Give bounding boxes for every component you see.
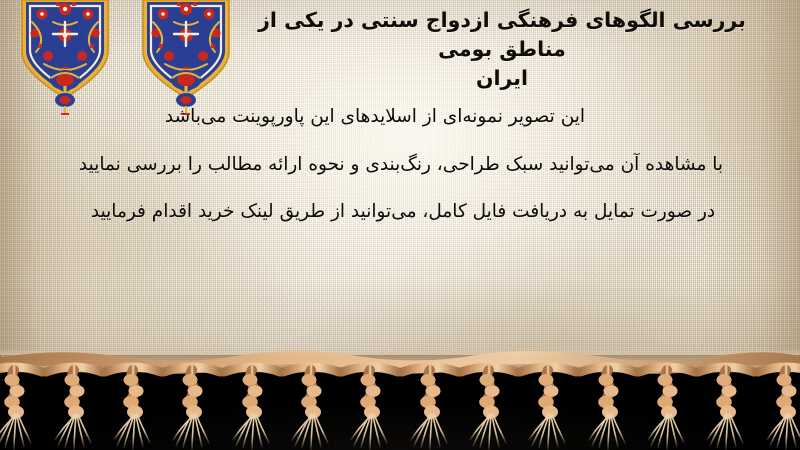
slide-title: بررسی الگوهای فرهنگی ازدواج سنتی در یکی … xyxy=(222,6,782,93)
body-line-2: با مشاهده آن می‌توانید سبک طراحی، رنگ‌بن… xyxy=(14,156,790,175)
body-line-3: در صورت تمایل به دریافت فایل کامل، می‌تو… xyxy=(14,203,790,222)
slide-body: این تصویر نمونه‌ای از اسلایدهای این پاور… xyxy=(14,108,790,222)
slide-title-line-2: ایران xyxy=(222,64,782,93)
body-line-1: این تصویر نمونه‌ای از اسلایدهای این پاور… xyxy=(14,108,790,127)
carpet-bottom-selvedge xyxy=(0,348,800,372)
presentation-slide: بررسی الگوهای فرهنگی ازدواج سنتی در یکی … xyxy=(0,0,800,450)
slide-title-line-1: بررسی الگوهای فرهنگی ازدواج سنتی در یکی … xyxy=(222,6,782,64)
